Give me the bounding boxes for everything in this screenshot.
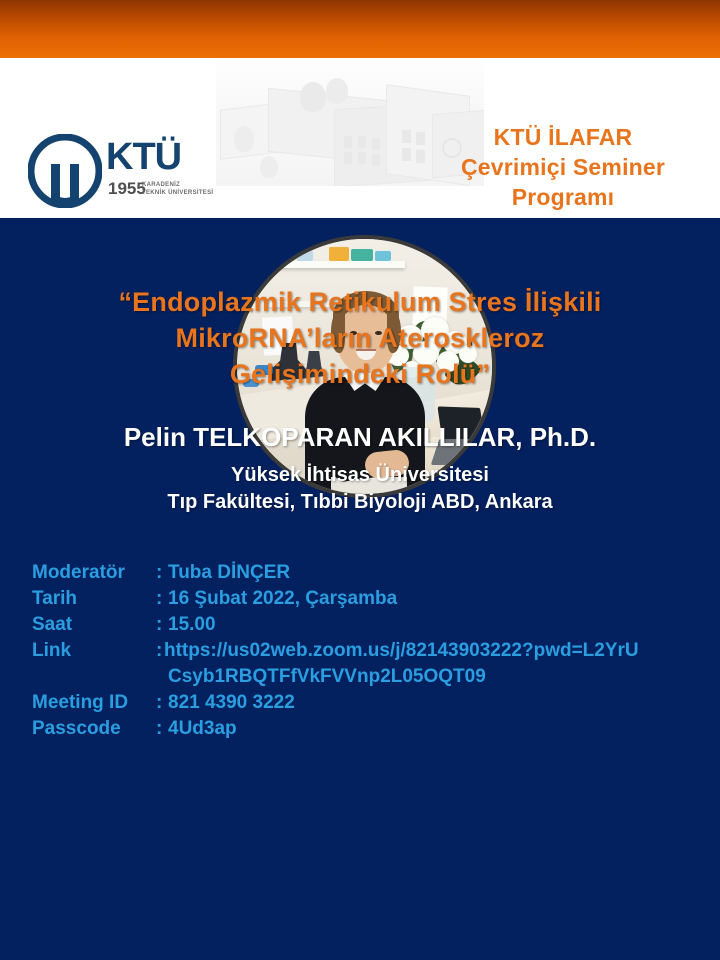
moderator-separator: : xyxy=(156,560,168,586)
meeting-id-value: 821 4390 3222 xyxy=(168,690,702,716)
date-value: 16 Şubat 2022, Çarşamba xyxy=(168,586,702,612)
time-separator: : xyxy=(156,612,168,638)
time-label: Saat xyxy=(32,612,156,638)
passcode-value: 4Ud3ap xyxy=(168,716,702,742)
detail-row-link[interactable]: Link : https://us02web.zoom.us/j/8214390… xyxy=(32,638,702,664)
talk-title-line1: “Endoplazmik Retikulum Stres İlişkili xyxy=(34,284,686,320)
speaker-affiliation-line1: Yüksek İhtisas Üniversitesi xyxy=(20,462,700,489)
ktu-circle-emblem-icon xyxy=(28,134,102,208)
date-separator: : xyxy=(156,586,168,612)
moderator-label: Moderatör xyxy=(32,560,156,586)
ktu-logo-subtitle-line2: TEKNİK ÜNİVERSİTESİ xyxy=(142,189,213,197)
detail-row-passcode: Passcode : 4Ud3ap xyxy=(32,716,702,742)
program-heading-line3: Programı xyxy=(420,182,706,212)
program-heading-line2: Çevrimiçi Seminer xyxy=(420,152,706,182)
meeting-id-label: Meeting ID xyxy=(32,690,156,716)
speaker-name: Pelin TELKOPARAN AKILLILAR, Ph.D. xyxy=(20,421,700,453)
moderator-value: Tuba DİNÇER xyxy=(168,560,702,586)
talk-title: “Endoplazmik Retikulum Stres İlişkili Mi… xyxy=(34,284,686,392)
talk-title-line3: Gelişimindeki Rolü” xyxy=(34,356,686,392)
time-value: 15.00 xyxy=(168,612,702,638)
seminar-details: Moderatör : Tuba DİNÇER Tarih : 16 Şubat… xyxy=(32,560,702,742)
ktu-logo-subtitle-line1: KARADENİZ xyxy=(142,181,213,189)
detail-row-time: Saat : 15.00 xyxy=(32,612,702,638)
passcode-separator: : xyxy=(156,716,168,742)
program-heading-line1: KTÜ İLAFAR xyxy=(420,122,706,152)
ktu-logo-wordmark: KTÜ xyxy=(106,138,181,176)
meeting-link-value-continued[interactable]: Csyb1RBQTFfVkFVVnp2L05OQT09 xyxy=(32,664,702,690)
meeting-link-value[interactable]: https://us02web.zoom.us/j/82143903222?pw… xyxy=(164,638,702,664)
passcode-label: Passcode xyxy=(32,716,156,742)
link-label: Link xyxy=(32,638,156,664)
link-separator: : xyxy=(156,638,164,664)
header-band: KTÜ 1955 KARADENİZ TEKNİK ÜNİVERSİTESİ K… xyxy=(0,58,720,218)
date-label: Tarih xyxy=(32,586,156,612)
speaker-affiliation: Yüksek İhtisas Üniversitesi Tıp Fakültes… xyxy=(20,462,700,516)
detail-row-moderator: Moderatör : Tuba DİNÇER xyxy=(32,560,702,586)
ktu-logo-subtitle: KARADENİZ TEKNİK ÜNİVERSİTESİ xyxy=(142,181,213,197)
ktu-logo: KTÜ 1955 KARADENİZ TEKNİK ÜNİVERSİTESİ xyxy=(28,134,214,212)
detail-row-meeting-id: Meeting ID : 821 4390 3222 xyxy=(32,690,702,716)
ktu-logo-year: 1955 xyxy=(108,180,146,197)
detail-row-date: Tarih : 16 Şubat 2022, Çarşamba xyxy=(32,586,702,612)
meeting-id-separator: : xyxy=(156,690,168,716)
speaker-affiliation-line2: Tıp Fakültesi, Tıbbi Biyoloji ABD, Ankar… xyxy=(20,489,700,516)
top-orange-bar xyxy=(0,0,720,58)
talk-title-line2: MikroRNA’ların Ateroskleroz xyxy=(34,320,686,356)
program-heading: KTÜ İLAFAR Çevrimiçi Seminer Programı xyxy=(420,122,706,212)
seminar-poster: KTÜ 1955 KARADENİZ TEKNİK ÜNİVERSİTESİ K… xyxy=(0,0,720,960)
